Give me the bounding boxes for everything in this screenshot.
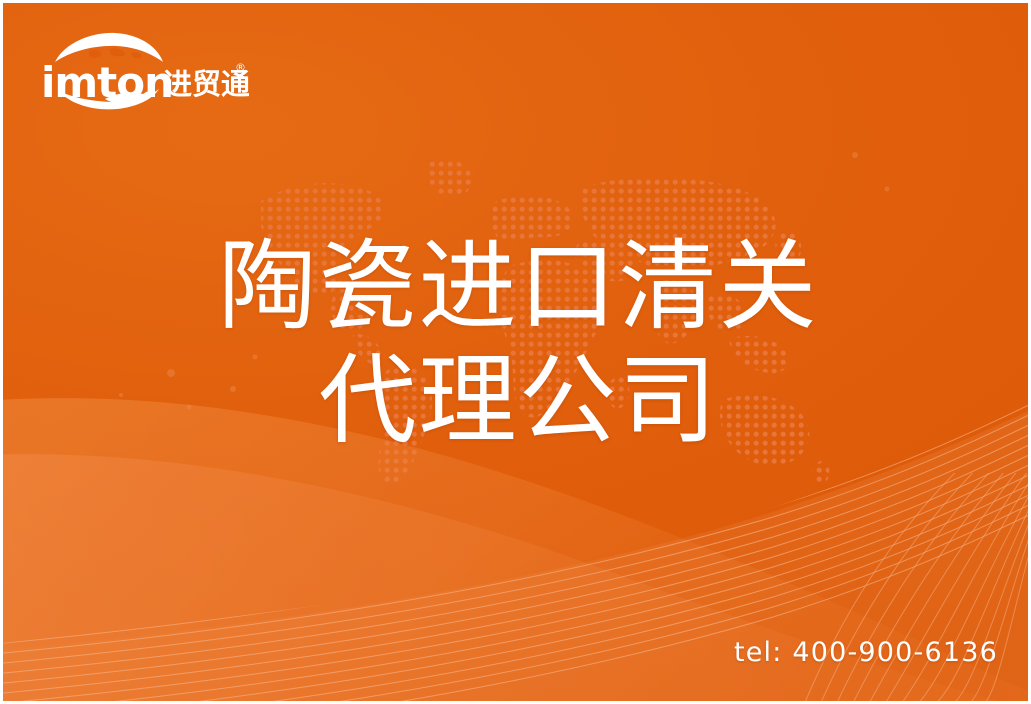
speck-dots (119, 152, 890, 410)
promo-banner: imton 进贸通 ® 陶瓷进口清关 代理公司 tel: 400-900-613… (0, 0, 1031, 704)
registered-trademark-icon: ® (235, 61, 246, 74)
logo-wordmark: imton (41, 58, 173, 107)
contact-phone[interactable]: tel: 400-900-6136 (734, 637, 998, 668)
brand-logo[interactable]: imton 进贸通 ® (39, 29, 249, 111)
